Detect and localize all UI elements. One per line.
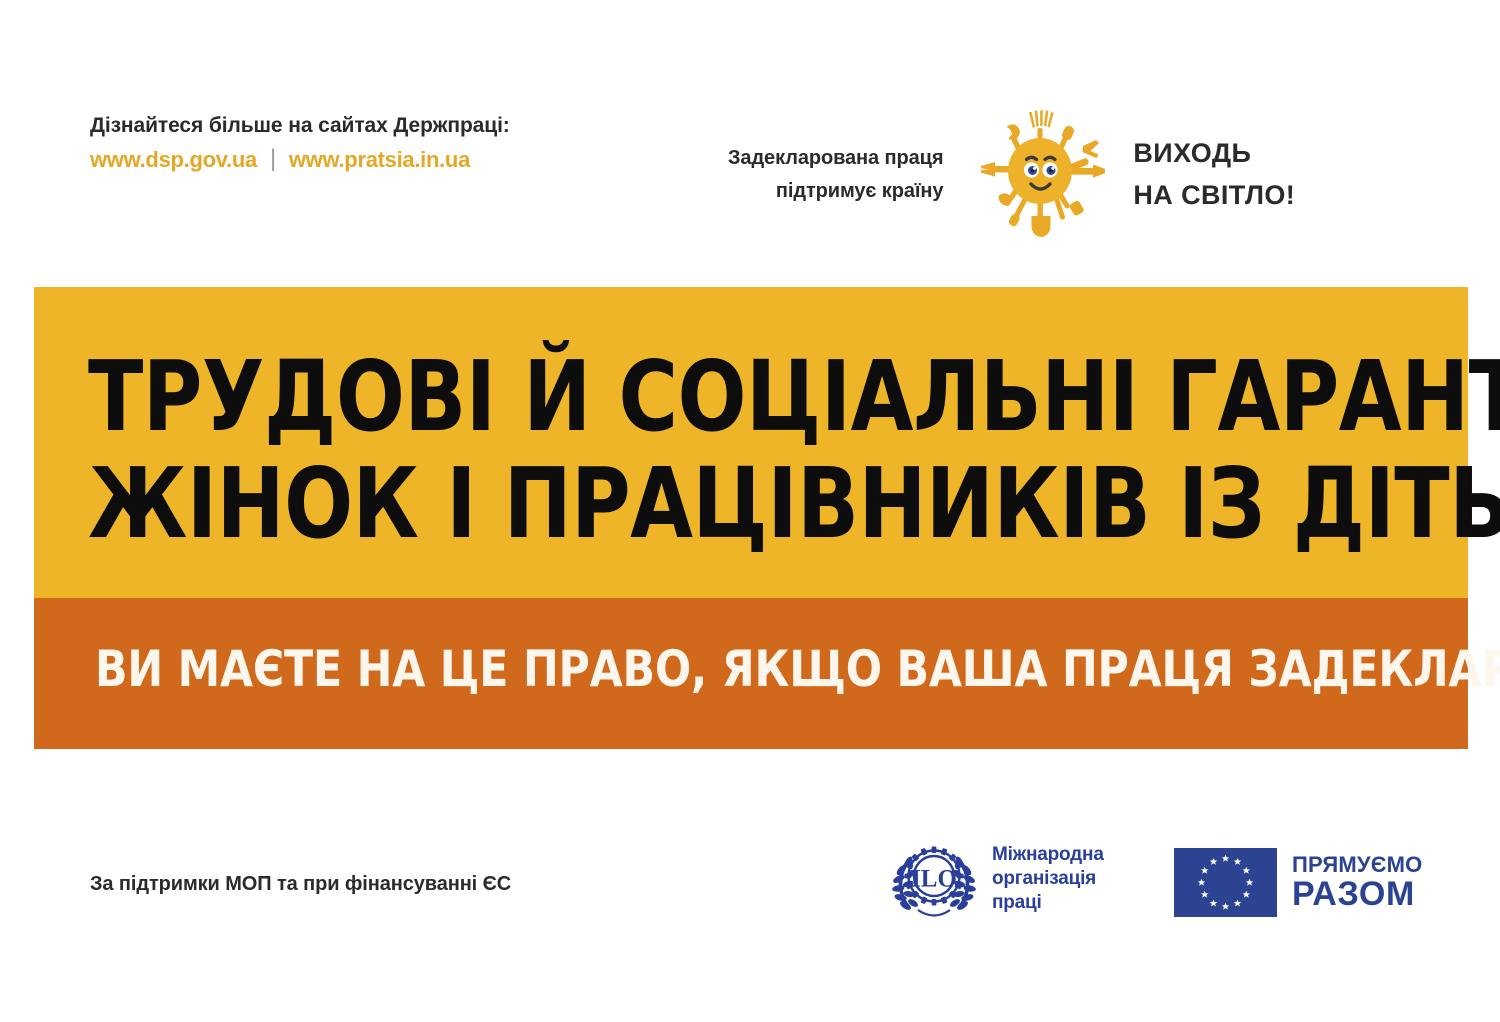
link-separator: | [270,145,276,173]
dsp-websites-links: www.dsp.gov.ua | www.pratsia.in.ua [90,146,510,174]
ilo-name-line-2: організація [992,867,1104,891]
page-header: Дізнайтеся більше на сайтах Держпраці: w… [0,0,1500,280]
campaign-block: Задекларована праця підтримує країну [728,108,1295,242]
banner-heading: ТРУДОВІ Й СОЦІАЛЬНІ ГАРАНТІЇ ДЛЯ ВАГІТНИ… [88,343,1438,557]
ilo-emblem-icon: ILO [888,838,980,920]
eu-logo: ПРЯМУЄМО РАЗОМ [1174,848,1422,917]
campaign-cta-line-1: ВИХОДЬ [1133,133,1295,175]
sun-mascot-icon [971,102,1111,242]
campaign-slogan: Задекларована праця підтримує країну [728,142,943,208]
main-banner: ТРУДОВІ Й СОЦІАЛЬНІ ГАРАНТІЇ ДЛЯ ВАГІТНИ… [34,287,1468,749]
campaign-cta: ВИХОДЬ НА СВІТЛО! [1133,133,1295,217]
ilo-monogram-text: ILO [911,866,957,893]
ilo-name: Міжнародна організація праці [992,843,1104,916]
dsp-websites-block: Дізнайтеся більше на сайтах Держпраці: w… [90,113,510,174]
eu-flag-icon [1174,848,1277,917]
campaign-slogan-line-1: Задекларована праця [728,142,943,175]
ilo-name-line-3: праці [992,891,1104,915]
pratsia-in-ua-link[interactable]: www.pratsia.in.ua [289,147,470,173]
ilo-name-line-1: Міжнародна [992,843,1104,867]
support-note: За підтримки МОП та при фінансуванні ЄС [90,873,511,896]
eu-slogan: ПРЯМУЄМО РАЗОМ [1292,854,1422,911]
campaign-cta-line-2: НА СВІТЛО! [1133,175,1295,217]
dsp-gov-ua-link[interactable]: www.dsp.gov.ua [90,147,257,173]
dsp-websites-title: Дізнайтеся більше на сайтах Держпраці: [90,113,510,139]
banner-orange-section: ВИ МАЄТЕ НА ЦЕ ПРАВО, ЯКЩО ВАША ПРАЦЯ ЗА… [34,598,1468,749]
ilo-logo: ILO Міжнародна організація праці [888,838,1104,920]
banner-heading-line-2: ЖІНОК І ПРАЦІВНИКІВ ІЗ ДІТЬМИ [88,450,1344,557]
eu-slogan-line-2: РАЗОМ [1292,877,1422,911]
banner-heading-line-1: ТРУДОВІ Й СОЦІАЛЬНІ ГАРАНТІЇ ДЛЯ ВАГІТНИ… [88,343,1344,450]
eu-slogan-line-1: ПРЯМУЄМО [1292,854,1422,876]
banner-yellow-section: ТРУДОВІ Й СОЦІАЛЬНІ ГАРАНТІЇ ДЛЯ ВАГІТНИ… [34,287,1468,598]
banner-subheading: ВИ МАЄТЕ НА ЦЕ ПРАВО, ЯКЩО ВАША ПРАЦЯ ЗА… [95,642,1500,697]
campaign-slogan-line-2: підтримує країну [728,175,943,208]
